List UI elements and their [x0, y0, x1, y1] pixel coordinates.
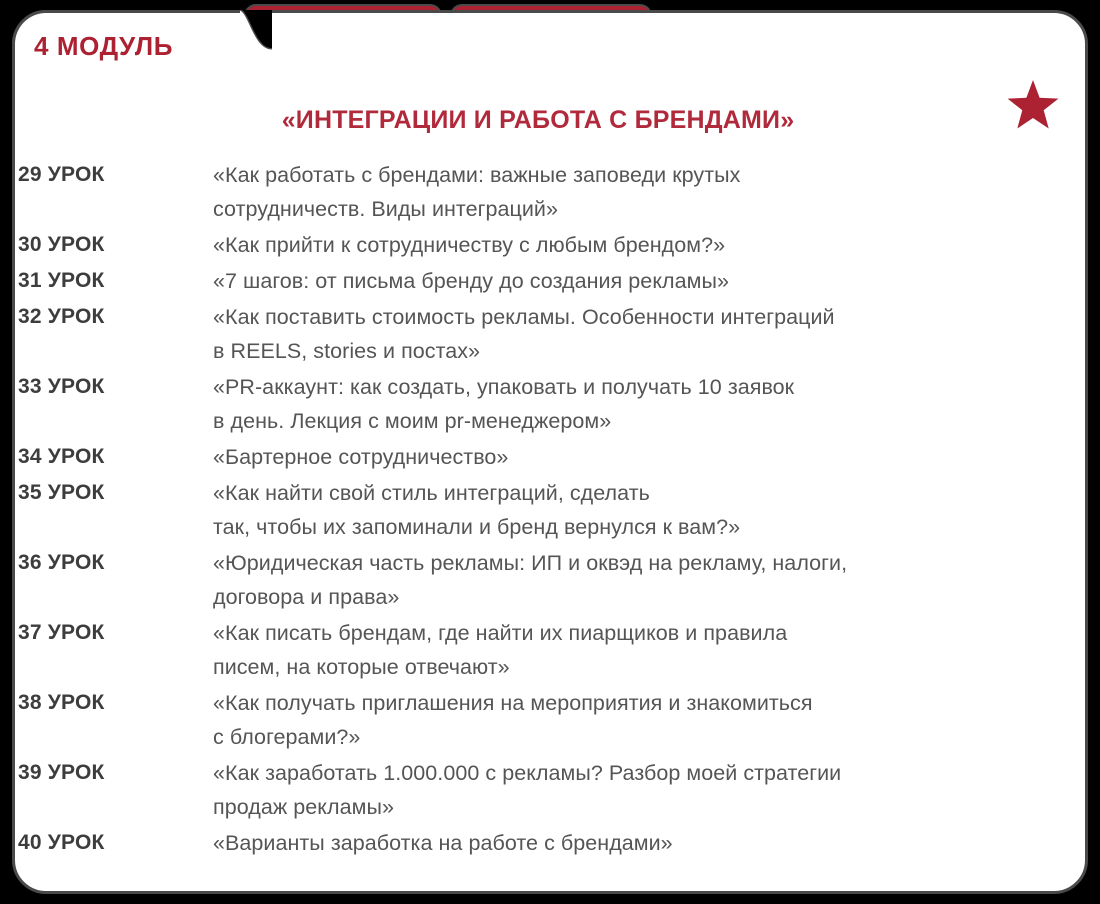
lesson-row[interactable]: 40 УРОК «Варианты заработка на работе с …	[18, 826, 1058, 860]
lesson-title-line1: «Как прийти к сотрудничеству с любым бре…	[213, 233, 725, 257]
tab-module-4-label: 4 МОДУЛЬ	[34, 31, 173, 62]
lesson-number: 37 УРОК	[18, 616, 213, 650]
lesson-title-line2: продаж рекламы»	[213, 790, 1058, 824]
lesson-row[interactable]: 34 УРОК «Бартерное сотрудничество»	[18, 440, 1058, 474]
page-title: «ИНТЕГРАЦИИ И РАБОТА С БРЕНДАМИ»	[0, 106, 1076, 135]
lesson-title: «PR-аккаунт: как создать, упаковать и по…	[213, 370, 1058, 438]
lesson-number: 39 УРОК	[18, 756, 213, 790]
lesson-number: 31 УРОК	[18, 264, 213, 298]
lesson-title: «Как работать с брендами: важные заповед…	[213, 158, 1058, 226]
module-card-page: 5 6 4 МОДУЛЬ «ИНТЕГРАЦИИ И РАБОТА С БРЕН…	[0, 0, 1100, 904]
lesson-number: 30 УРОК	[18, 228, 213, 262]
lesson-title: «Юридическая часть рекламы: ИП и оквэд н…	[213, 546, 1058, 614]
lesson-title-line1: «PR-аккаунт: как создать, упаковать и по…	[213, 375, 794, 399]
lesson-row[interactable]: 31 УРОК «7 шагов: от письма бренду до со…	[18, 264, 1058, 298]
lesson-title-line2: с блогерами?»	[213, 720, 1058, 754]
lesson-title: «Варианты заработка на работе с брендами…	[213, 826, 1058, 860]
lesson-number: 35 УРОК	[18, 476, 213, 510]
lesson-row[interactable]: 35 УРОК «Как найти свой стиль интеграций…	[18, 476, 1058, 544]
lesson-number: 33 УРОК	[18, 370, 213, 404]
lesson-row[interactable]: 37 УРОК «Как писать брендам, где найти и…	[18, 616, 1058, 684]
lesson-title-line2: договора и права»	[213, 580, 1058, 614]
lesson-title-line1: «Как работать с брендами: важные заповед…	[213, 163, 740, 187]
lesson-title: «Бартерное сотрудничество»	[213, 440, 1058, 474]
lesson-title-line2: в REELS, stories и постах»	[213, 334, 1058, 368]
lesson-number: 32 УРОК	[18, 300, 213, 334]
lesson-title: «Как заработать 1.000.000 с рекламы? Раз…	[213, 756, 1058, 824]
lesson-title-line2: сотрудничеств. Виды интеграций»	[213, 192, 1058, 226]
star-icon	[1006, 78, 1060, 132]
lesson-title: «7 шагов: от письма бренду до создания р…	[213, 264, 1058, 298]
lesson-row[interactable]: 29 УРОК «Как работать с брендами: важные…	[18, 158, 1058, 226]
lesson-title-line1: «Как получать приглашения на мероприятия…	[213, 691, 813, 715]
lesson-number: 40 УРОК	[18, 826, 213, 860]
lesson-title-line1: «Юридическая часть рекламы: ИП и оквэд н…	[213, 551, 847, 575]
lesson-title: «Как поставить стоимость рекламы. Особен…	[213, 300, 1058, 368]
lesson-number: 36 УРОК	[18, 546, 213, 580]
lesson-number: 34 УРОК	[18, 440, 213, 474]
lesson-row[interactable]: 32 УРОК «Как поставить стоимость рекламы…	[18, 300, 1058, 368]
tab-notch-curve	[240, 10, 272, 52]
lesson-title-line2: так, чтобы их запоминали и бренд вернулс…	[213, 510, 1058, 544]
lesson-row[interactable]: 38 УРОК «Как получать приглашения на мер…	[18, 686, 1058, 754]
lesson-title: «Как найти свой стиль интеграций, сделат…	[213, 476, 1058, 544]
lesson-title-line1: «Как заработать 1.000.000 с рекламы? Раз…	[213, 761, 841, 785]
lesson-title: «Как писать брендам, где найти их пиарщи…	[213, 616, 1058, 684]
lesson-row[interactable]: 30 УРОК «Как прийти к сотрудничеству с л…	[18, 228, 1058, 262]
lesson-row[interactable]: 33 УРОК «PR-аккаунт: как создать, упаков…	[18, 370, 1058, 438]
lesson-title-line1: «Как писать брендам, где найти их пиарщи…	[213, 621, 787, 645]
lesson-title-line1: «Варианты заработка на работе с брендами…	[213, 831, 673, 855]
lesson-title-line1: «Как поставить стоимость рекламы. Особен…	[213, 305, 835, 329]
lesson-title-line2: писем, на которые отвечают»	[213, 650, 1058, 684]
lesson-title-line1: «Как найти свой стиль интеграций, сделат…	[213, 481, 650, 505]
lesson-title: «Как прийти к сотрудничеству с любым бре…	[213, 228, 1058, 262]
lesson-title-line1: «Бартерное сотрудничество»	[213, 445, 508, 469]
lesson-title: «Как получать приглашения на мероприятия…	[213, 686, 1058, 754]
lesson-row[interactable]: 39 УРОК «Как заработать 1.000.000 с рекл…	[18, 756, 1058, 824]
lesson-title-line1: «7 шагов: от письма бренду до создания р…	[213, 269, 729, 293]
lesson-row[interactable]: 36 УРОК «Юридическая часть рекламы: ИП и…	[18, 546, 1058, 614]
notch-shape-icon	[240, 10, 272, 52]
lesson-title-line2: в день. Лекция с моим pr-менеджером»	[213, 404, 1058, 438]
lesson-number: 38 УРОК	[18, 686, 213, 720]
lesson-number: 29 УРОК	[18, 158, 213, 192]
lesson-list: 29 УРОК «Как работать с брендами: важные…	[18, 158, 1058, 862]
